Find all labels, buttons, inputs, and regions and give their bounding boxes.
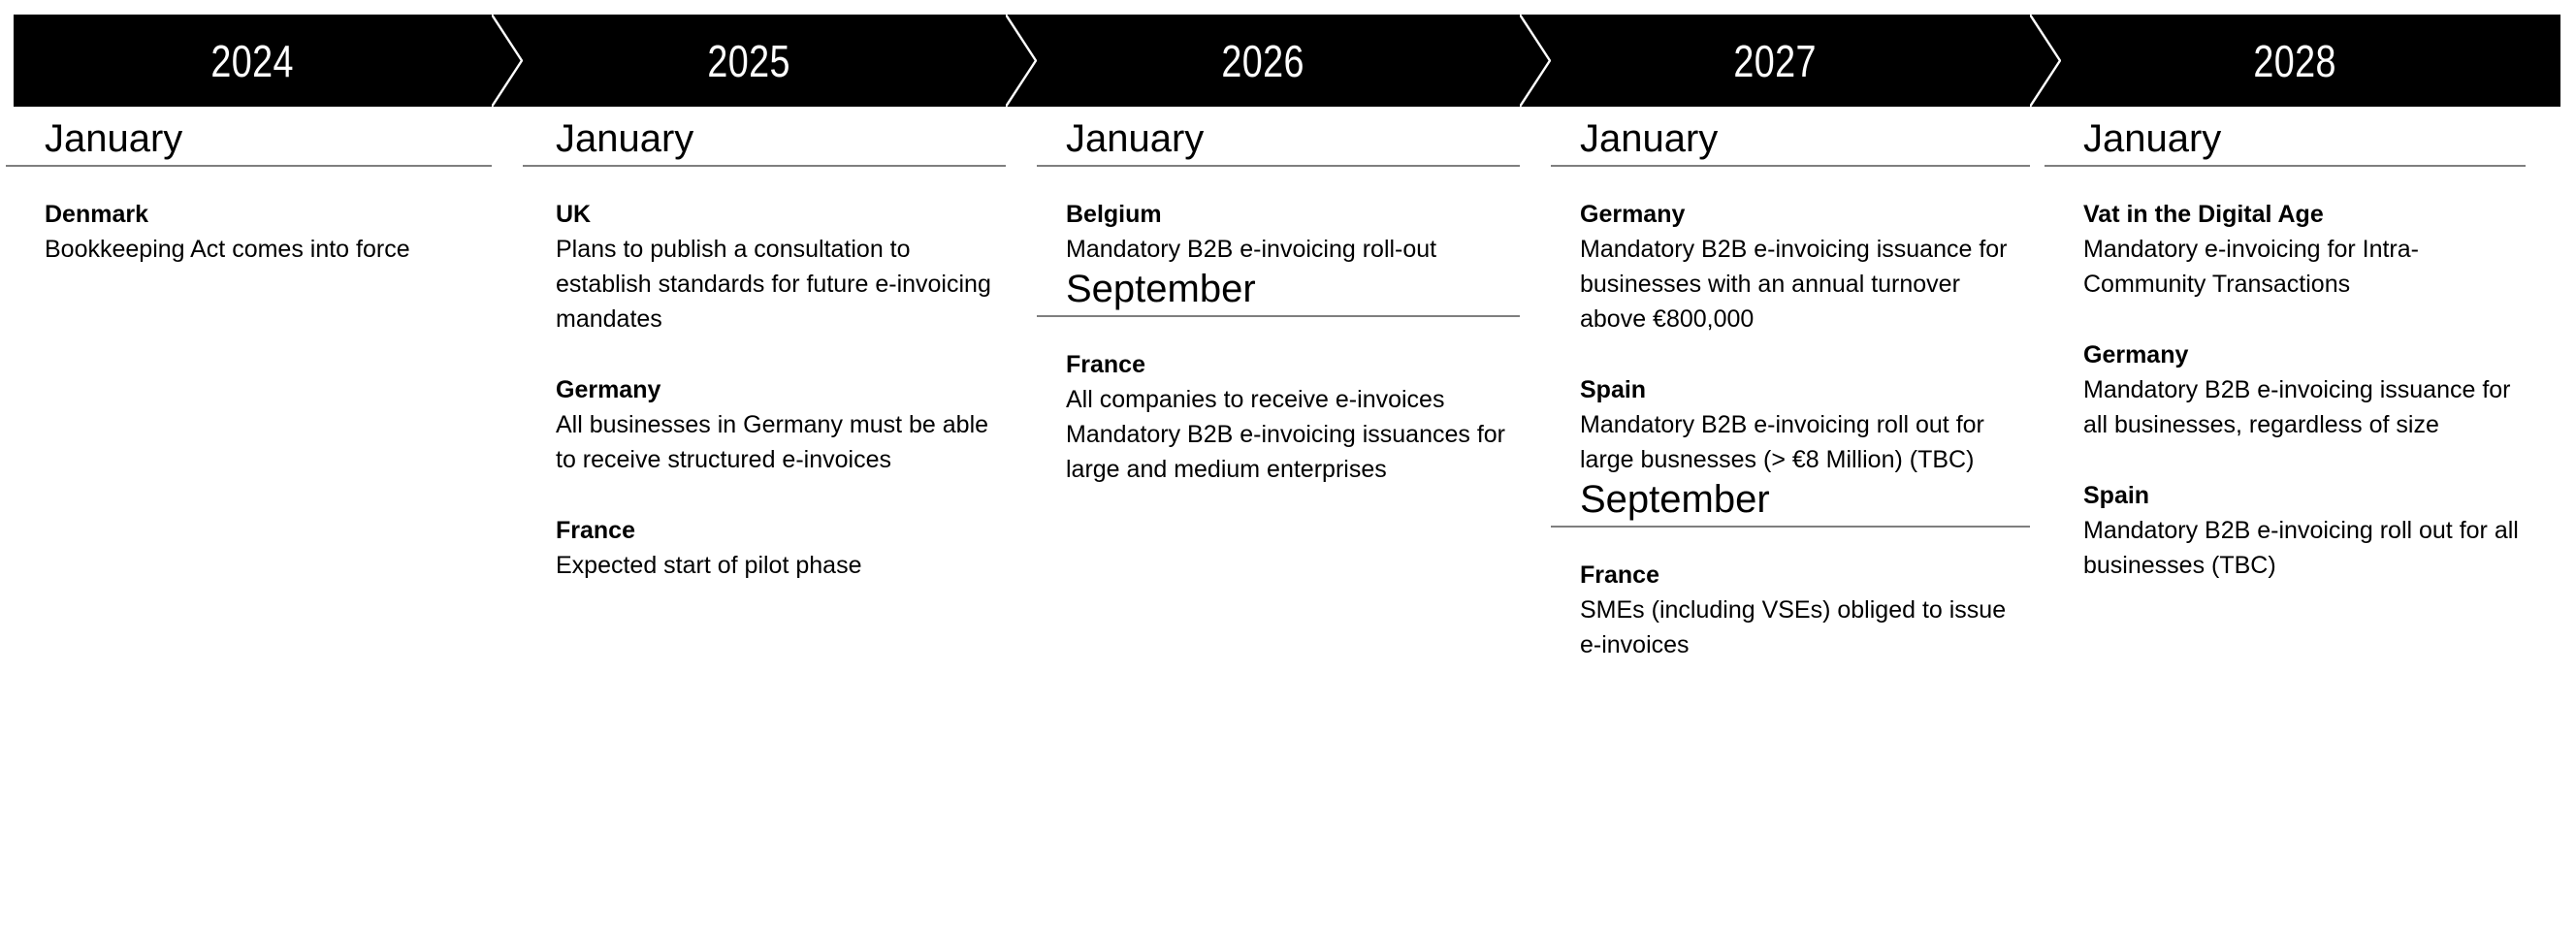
- event-description: Bookkeeping Act comes into force: [45, 232, 492, 267]
- event-title: France: [556, 513, 1006, 548]
- month-heading: September: [1551, 477, 2030, 526]
- month-divider: [1551, 165, 2030, 167]
- year-segment-2024[interactable]: 2024: [14, 15, 492, 107]
- month-divider: [1037, 315, 1520, 317]
- month-block-january: JanuaryBelgiumMandatory B2B e-invoicing …: [1037, 116, 1520, 267]
- year-segment-2027[interactable]: 2027: [1520, 15, 2030, 107]
- month-block-january: JanuaryDenmarkBookkeeping Act comes into…: [6, 116, 492, 267]
- timeline-column-2027: JanuaryGermanyMandatory B2B e-invoicing …: [1551, 116, 2030, 662]
- event-title: Belgium: [1066, 197, 1520, 232]
- month-heading: January: [2045, 116, 2526, 165]
- event-description: All businesses in Germany must be able t…: [556, 407, 1006, 477]
- event-title: UK: [556, 197, 1006, 232]
- timeline-event: UKPlans to publish a consultation to est…: [556, 197, 1006, 336]
- year-segment-2026[interactable]: 2026: [1006, 15, 1520, 107]
- month-heading: September: [1037, 267, 1520, 315]
- month-divider: [2045, 165, 2526, 167]
- month-block-september: SeptemberFranceSMEs (including VSEs) obl…: [1551, 477, 2030, 662]
- event-list: FranceAll companies to receive e-invoice…: [1037, 347, 1520, 487]
- timeline-event: GermanyMandatory B2B e-invoicing issuanc…: [1580, 197, 2030, 336]
- event-description: Plans to publish a consultation to estab…: [556, 232, 1006, 336]
- timeline-event: SpainMandatory B2B e-invoicing roll out …: [2083, 478, 2526, 583]
- timeline-column-2028: JanuaryVat in the Digital AgeMandatory e…: [2045, 116, 2526, 583]
- timeline-event: FranceExpected start of pilot phase: [556, 513, 1006, 583]
- event-title: Germany: [556, 372, 1006, 407]
- event-title: Denmark: [45, 197, 492, 232]
- event-description: All companies to receive e-invoices: [1066, 382, 1520, 417]
- timeline-event: GermanyMandatory B2B e-invoicing issuanc…: [2083, 337, 2526, 442]
- month-block-january: JanuaryUKPlans to publish a consultation…: [523, 116, 1006, 583]
- event-description: Mandatory B2B e-invoicing issuance for a…: [2083, 372, 2526, 442]
- event-list: FranceSMEs (including VSEs) obliged to i…: [1551, 558, 2030, 662]
- event-title: Spain: [2083, 478, 2526, 513]
- event-title: Germany: [1580, 197, 2030, 232]
- event-title: Vat in the Digital Age: [2083, 197, 2526, 232]
- month-heading: January: [523, 116, 1006, 165]
- month-block-september: SeptemberFranceAll companies to receive …: [1037, 267, 1520, 487]
- timeline-event: DenmarkBookkeeping Act comes into force: [45, 197, 492, 267]
- year-segment-2025[interactable]: 2025: [492, 15, 1006, 107]
- timeline-columns: JanuaryDenmarkBookkeeping Act comes into…: [0, 116, 2576, 929]
- month-heading: January: [1551, 116, 2030, 165]
- month-divider: [1037, 165, 1520, 167]
- year-label: 2027: [1733, 39, 1817, 83]
- event-title: France: [1580, 558, 2030, 593]
- month-block-january: JanuaryVat in the Digital AgeMandatory e…: [2045, 116, 2526, 583]
- event-title: France: [1066, 347, 1520, 382]
- event-description: SMEs (including VSEs) obliged to issue e…: [1580, 593, 2030, 662]
- month-divider: [6, 165, 492, 167]
- event-list: UKPlans to publish a consultation to est…: [523, 197, 1006, 583]
- event-description: Mandatory B2B e-invoicing issuance for b…: [1580, 232, 2030, 336]
- year-label: 2024: [211, 39, 295, 83]
- timeline-column-2024: JanuaryDenmarkBookkeeping Act comes into…: [6, 116, 492, 267]
- month-block-january: JanuaryGermanyMandatory B2B e-invoicing …: [1551, 116, 2030, 477]
- timeline-event: FranceAll companies to receive e-invoice…: [1066, 347, 1520, 487]
- year-label: 2026: [1221, 39, 1304, 83]
- event-list: Vat in the Digital AgeMandatory e-invoic…: [2045, 197, 2526, 583]
- event-title: Germany: [2083, 337, 2526, 372]
- timeline-event: Vat in the Digital AgeMandatory e-invoic…: [2083, 197, 2526, 302]
- event-description: Expected start of pilot phase: [556, 548, 1006, 583]
- timeline-event: GermanyAll businesses in Germany must be…: [556, 372, 1006, 477]
- event-description: Mandatory B2B e-invoicing roll out for a…: [2083, 513, 2526, 583]
- month-divider: [1551, 526, 2030, 528]
- event-list: DenmarkBookkeeping Act comes into force: [6, 197, 492, 267]
- year-segment-2028[interactable]: 2028: [2030, 15, 2560, 107]
- month-heading: January: [6, 116, 492, 165]
- event-title: Spain: [1580, 372, 2030, 407]
- timeline-event: SpainMandatory B2B e-invoicing roll out …: [1580, 372, 2030, 477]
- month-heading: January: [1037, 116, 1520, 165]
- event-description: Mandatory B2B e-invoicing roll-out: [1066, 232, 1520, 267]
- event-description: Mandatory B2B e-invoicing issuances for …: [1066, 417, 1520, 487]
- timeline-event: FranceSMEs (including VSEs) obliged to i…: [1580, 558, 2030, 662]
- event-list: BelgiumMandatory B2B e-invoicing roll-ou…: [1037, 197, 1520, 267]
- event-description: Mandatory e-invoicing for Intra-Communit…: [2083, 232, 2526, 302]
- timeline-column-2025: JanuaryUKPlans to publish a consultation…: [523, 116, 1006, 583]
- event-description: Mandatory B2B e-invoicing roll out for l…: [1580, 407, 2030, 477]
- year-label: 2025: [707, 39, 790, 83]
- year-timeline-band: 20242025202620272028: [14, 15, 2560, 107]
- year-label: 2028: [2254, 39, 2337, 83]
- timeline-event: BelgiumMandatory B2B e-invoicing roll-ou…: [1066, 197, 1520, 267]
- event-list: GermanyMandatory B2B e-invoicing issuanc…: [1551, 197, 2030, 477]
- month-divider: [523, 165, 1006, 167]
- timeline-column-2026: JanuaryBelgiumMandatory B2B e-invoicing …: [1037, 116, 1520, 487]
